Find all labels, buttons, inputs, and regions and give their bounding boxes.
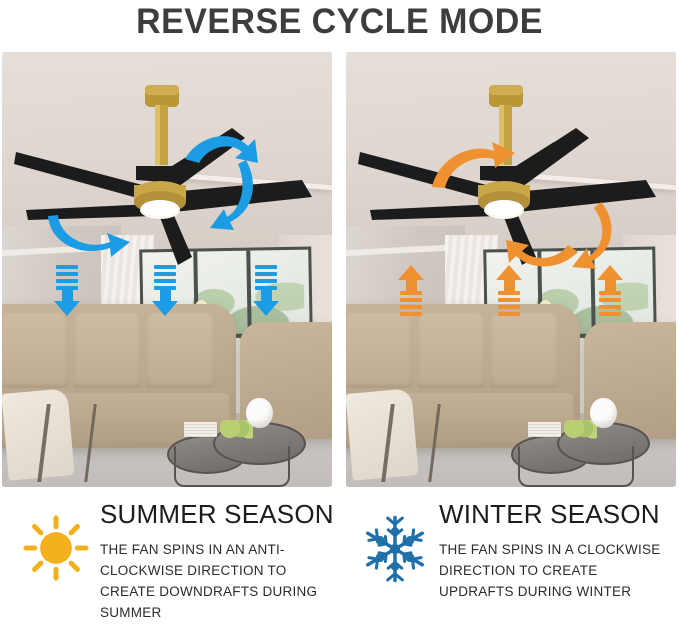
downdraft-arrow-1 <box>54 265 80 316</box>
winter-info-block: WINTER SEASON THE FAN SPINS IN A CLOCKWI… <box>339 497 678 630</box>
page-title: REVERSE CYCLE MODE <box>10 0 669 46</box>
chair <box>381 404 441 482</box>
sun-icon-wrap <box>12 497 100 630</box>
summer-info-block: SUMMER SEASON THE FAN SPINS IN AN ANTI-C… <box>0 497 339 630</box>
updraft-arrow-3 <box>597 265 623 316</box>
books <box>528 422 561 437</box>
summer-description: THE FAN SPINS IN AN ANTI-CLOCKWISE DIREC… <box>100 539 332 623</box>
sun-icon <box>21 513 91 583</box>
winter-title: WINTER SEASON <box>439 499 678 529</box>
summer-text: SUMMER SEASON THE FAN SPINS IN AN ANTI-C… <box>100 497 339 630</box>
apples-bowl <box>220 420 253 440</box>
winter-description: THE FAN SPINS IN A CLOCKWISE DIRECTION T… <box>439 539 671 602</box>
decor-ball <box>246 398 272 428</box>
snowflake-icon <box>359 513 431 585</box>
decor-ball <box>590 398 616 428</box>
chair <box>37 404 97 482</box>
downdraft-arrow-2 <box>152 265 178 316</box>
winter-photo-panel <box>346 52 676 487</box>
table-legs <box>518 446 634 487</box>
winter-text: WINTER SEASON THE FAN SPINS IN A CLOCKWI… <box>439 497 678 630</box>
table-legs <box>174 446 290 487</box>
season-info-row: SUMMER SEASON THE FAN SPINS IN AN ANTI-C… <box>0 497 679 630</box>
apples-bowl <box>564 420 597 440</box>
summer-title: SUMMER SEASON <box>100 499 339 529</box>
photo-panels <box>2 52 677 487</box>
updraft-arrow-1 <box>398 265 424 316</box>
summer-photo-panel <box>2 52 332 487</box>
updraft-arrow-2 <box>496 265 522 316</box>
downdraft-arrow-3 <box>253 265 279 316</box>
snowflake-icon-wrap <box>351 497 439 630</box>
books <box>184 422 217 437</box>
